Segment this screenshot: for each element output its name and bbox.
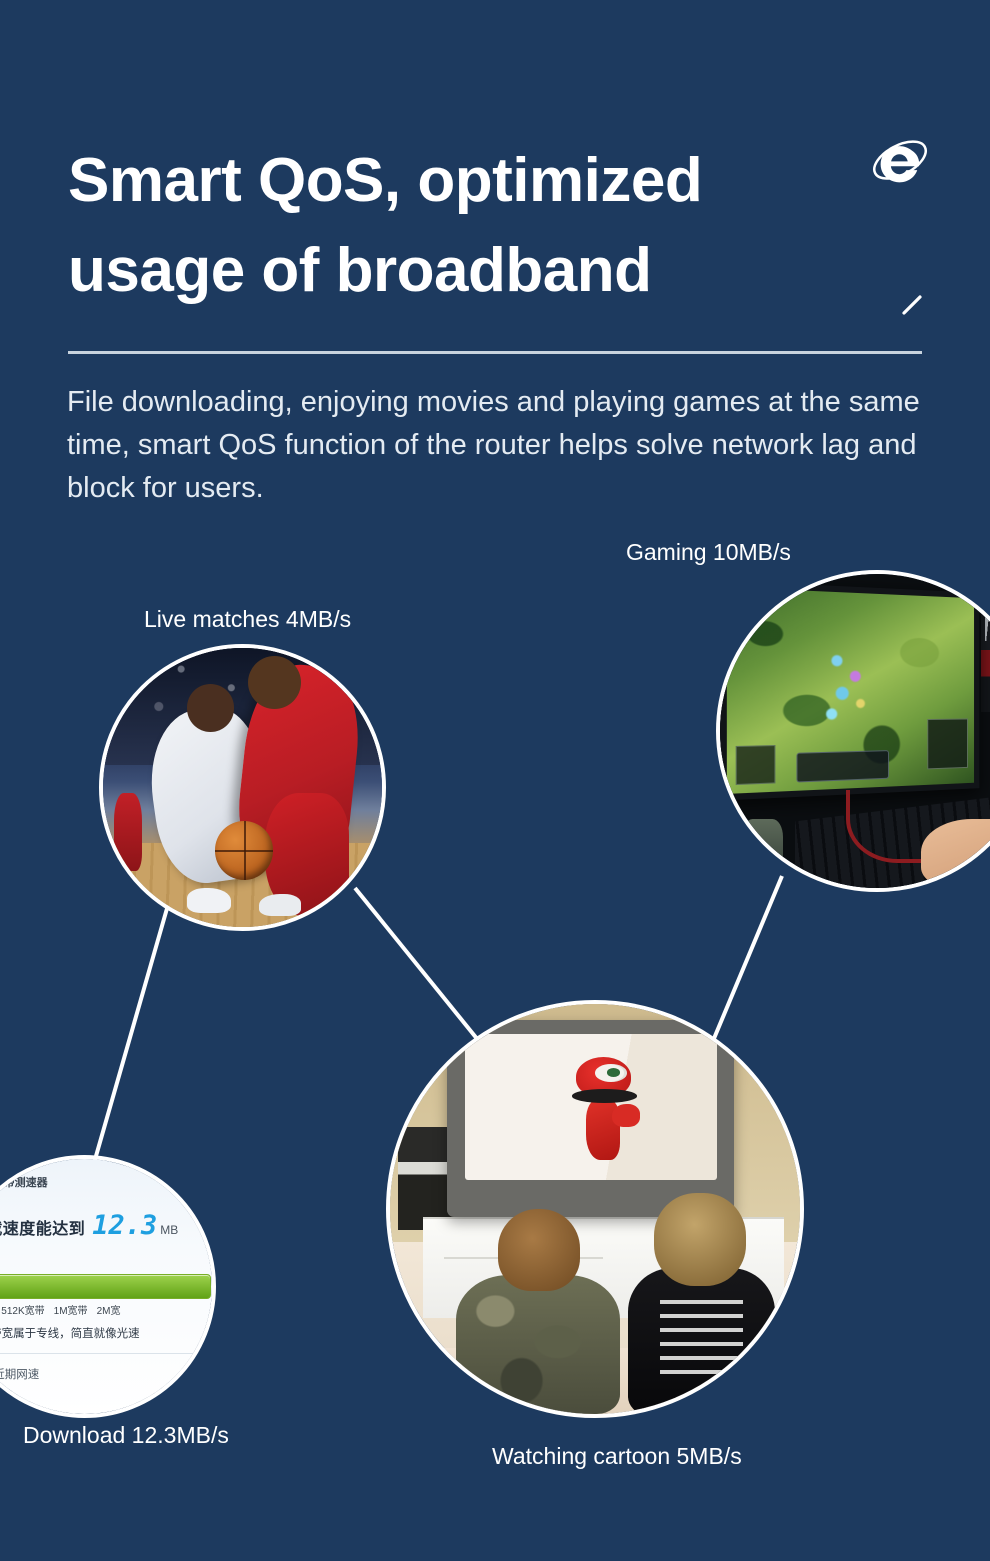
photo-circle-gaming	[716, 570, 990, 892]
page-title-line1: Smart QoS, optimized	[68, 136, 858, 226]
speedtest-footer[interactable]: 近期网速	[0, 1366, 39, 1382]
gaming-pc-moba-screen-photo	[720, 574, 990, 888]
basketball-game-photo	[103, 648, 382, 927]
photo-circle-live-matches	[99, 644, 386, 931]
speedtest-footer-label: 近期网速	[0, 1366, 39, 1382]
speedtest-separator	[0, 1353, 209, 1354]
diagonal-slash-mark	[901, 294, 923, 316]
page-title: Smart QoS, optimized usage of broadband	[68, 136, 858, 316]
speedtest-progress-bar	[0, 1274, 211, 1299]
page-subtitle: File downloading, enjoying movies and pl…	[67, 381, 947, 510]
page-title-line2: usage of broadband	[68, 226, 858, 316]
smart-qos-infographic-page: Smart QoS, optimized usage of broadband …	[0, 0, 990, 1561]
speedtest-tick-2: 1M宽带	[54, 1302, 88, 1317]
photo-circle-watching-cartoon	[386, 1000, 804, 1418]
speedtest-note: 您的带宽属于专线，简直就像光速	[0, 1325, 140, 1341]
broadband-speedtest-screenshot: 宽带测速器 下载速度能达到 12.3 MB 拨号 512K宽带 1M宽带 2M宽…	[0, 1159, 212, 1414]
speedtest-value: 12.3	[92, 1210, 157, 1241]
speedtest-main-label: 下载速度能达到	[0, 1215, 85, 1239]
children-watching-tv-photo	[390, 1004, 800, 1414]
header-divider	[68, 351, 922, 354]
internet-explorer-icon	[869, 131, 931, 193]
cartoon-puppet-character	[571, 1057, 642, 1162]
speedtest-tick-1: 512K宽带	[1, 1302, 44, 1317]
label-gaming: Gaming 10MB/s	[626, 539, 791, 566]
label-watching-cartoon: Watching cartoon 5MB/s	[492, 1443, 742, 1470]
speedtest-tick-3: 2M宽	[97, 1302, 121, 1317]
speedtest-readout: 下载速度能达到 12.3 MB	[0, 1210, 178, 1241]
speedtest-title: 宽带测速器	[0, 1174, 48, 1190]
photo-circle-download-speedtest: 宽带测速器 下载速度能达到 12.3 MB 拨号 512K宽带 1M宽带 2M宽…	[0, 1155, 216, 1418]
speedtest-tick-labels: 拨号 512K宽带 1M宽带 2M宽	[0, 1302, 212, 1317]
label-download: Download 12.3MB/s	[23, 1422, 229, 1449]
label-live-matches: Live matches 4MB/s	[144, 606, 351, 633]
connector-live-to-download	[92, 905, 168, 1170]
speedtest-unit: MB	[160, 1223, 178, 1237]
